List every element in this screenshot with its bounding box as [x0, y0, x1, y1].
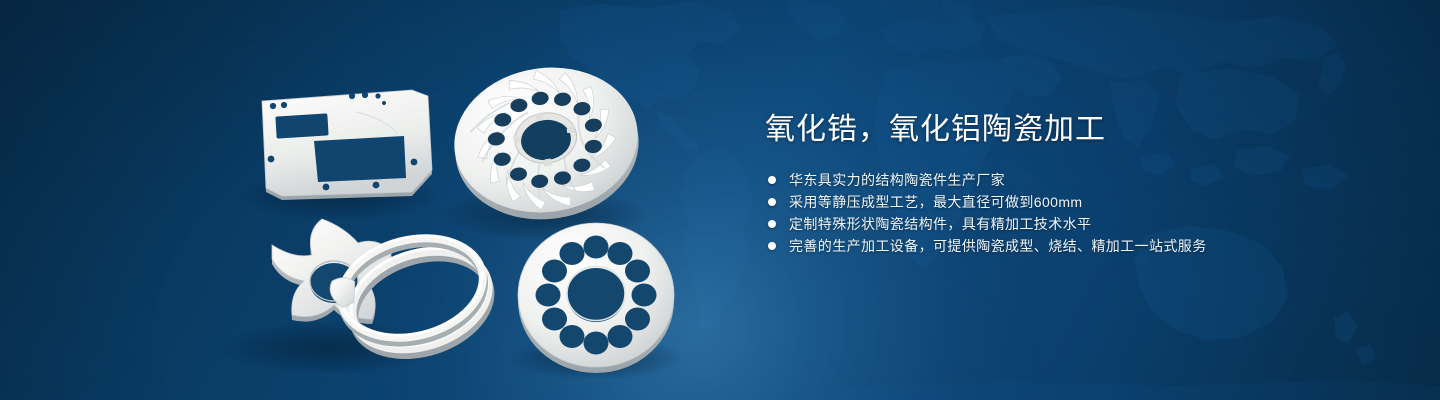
feature-text: 定制特殊形状陶瓷结构件，具有精加工技术水平 [789, 216, 1091, 232]
list-item: 华东具实力的结构陶瓷件生产厂家 [768, 172, 1385, 188]
list-item: 定制特殊形状陶瓷结构件，具有精加工技术水平 [768, 216, 1385, 232]
feature-text: 采用等静压成型工艺，最大直径可做到600mm [789, 194, 1082, 210]
bullet-dot-icon [768, 242, 776, 250]
bullet-dot-icon [768, 220, 776, 228]
feature-text: 完善的生产加工设备，可提供陶瓷成型、烧结、精加工一站式服务 [789, 238, 1207, 254]
bullet-dot-icon [768, 198, 776, 206]
ceramic-perforated-disc [518, 223, 674, 373]
bullet-dot-icon [768, 176, 776, 184]
list-item: 采用等静压成型工艺，最大直径可做到600mm [768, 194, 1385, 210]
ceramic-parts-photo [0, 0, 720, 400]
promo-banner: 氧化锆，氧化铝陶瓷加工 华东具实力的结构陶瓷件生产厂家 采用等静压成型工艺，最大… [0, 0, 1440, 400]
feature-text: 华东具实力的结构陶瓷件生产厂家 [789, 172, 1005, 188]
banner-copy: 氧化锆，氧化铝陶瓷加工 华东具实力的结构陶瓷件生产厂家 采用等静压成型工艺，最大… [765, 110, 1385, 260]
feature-list: 华东具实力的结构陶瓷件生产厂家 采用等静压成型工艺，最大直径可做到600mm 定… [768, 172, 1385, 254]
ceramic-mounting-plate [262, 90, 432, 200]
list-item: 完善的生产加工设备，可提供陶瓷成型、烧结、精加工一站式服务 [768, 238, 1385, 254]
page-title: 氧化锆，氧化铝陶瓷加工 [765, 110, 1385, 150]
